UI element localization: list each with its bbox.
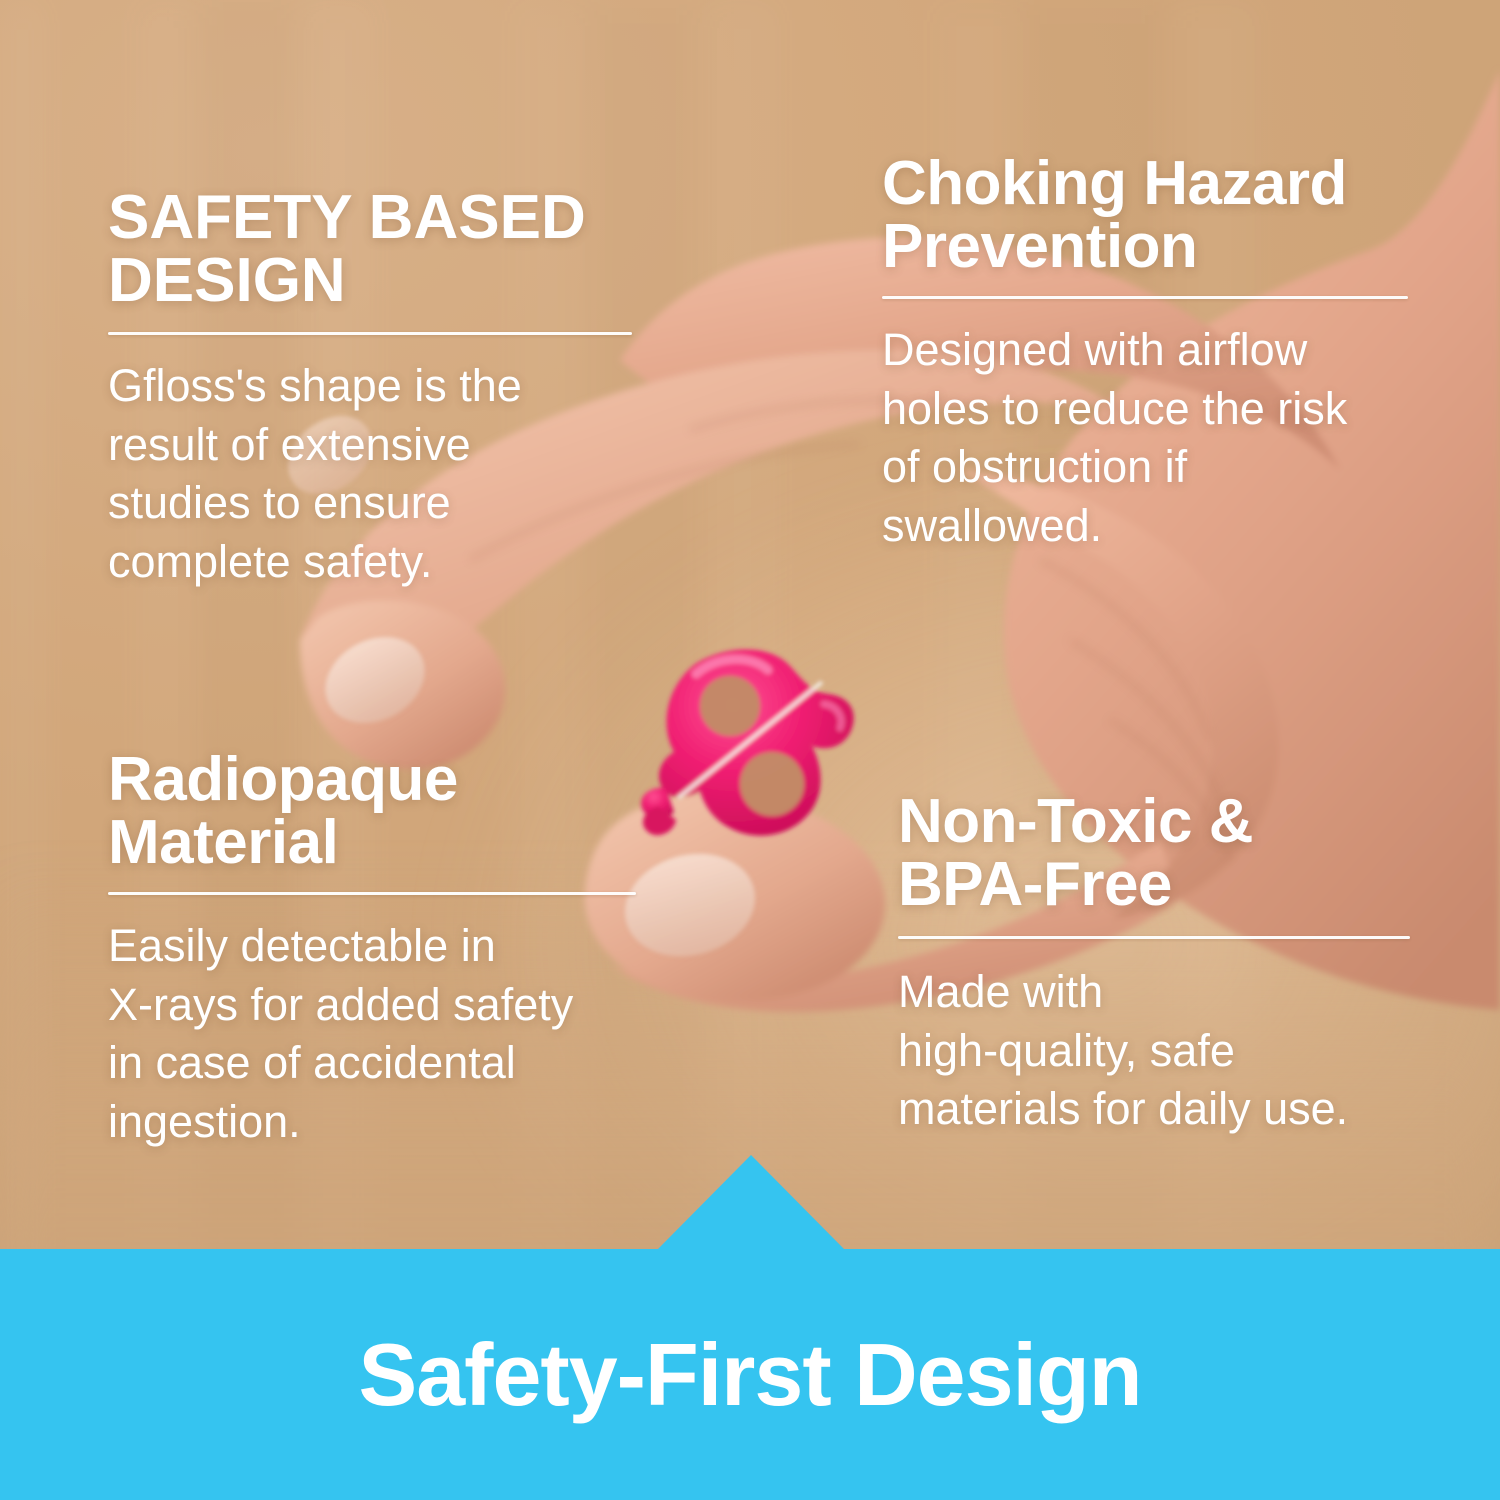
feature-body: Designed with airflow holes to reduce th… <box>882 321 1412 555</box>
feature-heading: SAFETY BASED DESIGN <box>108 186 638 312</box>
feature-body: Made with high-quality, safe materials f… <box>898 963 1418 1139</box>
infographic-canvas: SAFETY BASED DESIGN Gfloss's shape is th… <box>0 0 1500 1500</box>
feature-heading: Non-Toxic & BPA-Free <box>898 790 1418 916</box>
feature-heading: Radiopaque Material <box>108 748 648 874</box>
feature-divider <box>898 936 1410 939</box>
feature-divider <box>882 296 1408 299</box>
banner-title: Safety-First Design <box>0 1249 1500 1500</box>
feature-body: Easily detectable in X-rays for added sa… <box>108 917 648 1151</box>
feature-block-non-toxic-bpa-free: Non-Toxic & BPA-Free Made with high-qual… <box>898 790 1418 1139</box>
feature-body: Gfloss's shape is the result of extensiv… <box>108 357 638 591</box>
feature-divider <box>108 892 636 895</box>
feature-block-radiopaque-material: Radiopaque Material Easily detectable in… <box>108 748 648 1151</box>
feature-divider <box>108 332 632 335</box>
feature-block-choking-hazard-prevention: Choking Hazard Prevention Designed with … <box>882 152 1412 555</box>
feature-heading: Choking Hazard Prevention <box>882 152 1412 278</box>
feature-block-safety-based-design: SAFETY BASED DESIGN Gfloss's shape is th… <box>108 186 638 591</box>
